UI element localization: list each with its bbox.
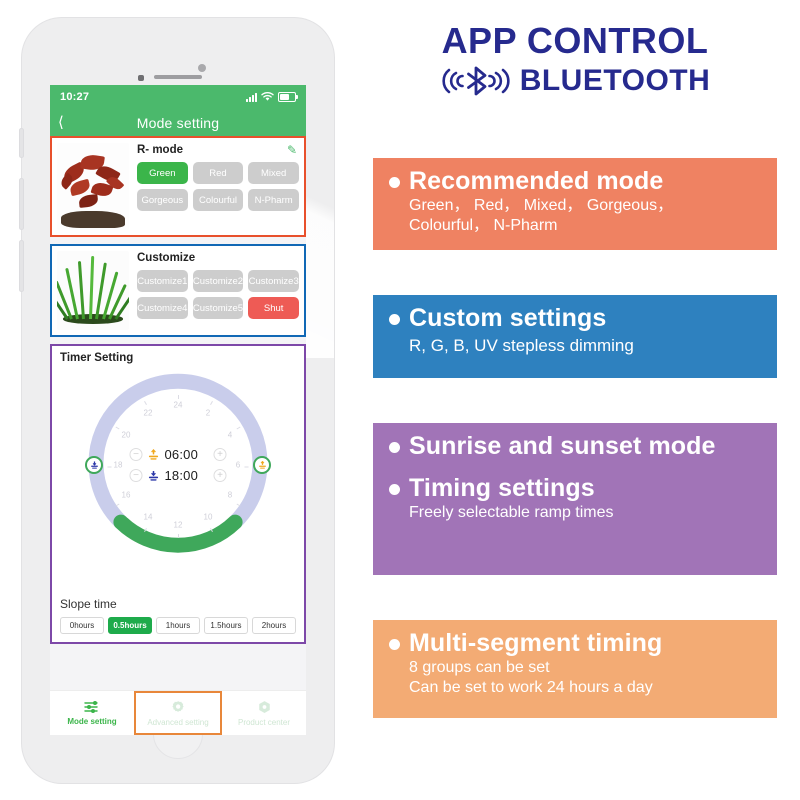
- feature-multi-segment: Multi-segment timing 8 groups can be set…: [373, 620, 777, 718]
- mode-button-red[interactable]: Red: [193, 162, 244, 184]
- customize-button-5[interactable]: Customize5: [193, 297, 244, 319]
- slope-time-title: Slope time: [60, 597, 296, 611]
- timer-setting-card: Timer Setting 24 2 4 6 8 10: [50, 344, 306, 644]
- recommended-mode-card: R- mode ✎ Green Red Mixed Gorgeous Colou…: [50, 136, 306, 237]
- mode-button-mixed[interactable]: Mixed: [248, 162, 299, 184]
- status-icons: [246, 92, 296, 102]
- gear-icon: [171, 700, 186, 715]
- headline-sub-row: BLUETOOTH: [373, 64, 777, 98]
- mode-button-n-pharm[interactable]: N-Pharm: [248, 189, 299, 211]
- feature-multi-sub-1: 8 groups can be set: [389, 658, 777, 678]
- sunset-icon: [90, 461, 99, 470]
- slope-option-0-5hours[interactable]: 0.5hours: [108, 617, 152, 634]
- bullet-icon: [389, 442, 400, 453]
- feature-custom-title: Custom settings: [409, 305, 606, 333]
- timer-dial[interactable]: 24 2 4 6 8 10 12 14 16 18 20 22: [83, 370, 273, 560]
- sunrise-time-row: − 06:00 +: [130, 447, 227, 462]
- feature-custom-settings: Custom settings R, G, B, UV stepless dim…: [373, 295, 777, 378]
- slope-time-area: Slope time 0hours 0.5hours 1hours 1.5hou…: [60, 597, 296, 634]
- recommended-mode-title: R- mode: [137, 144, 183, 156]
- phone-screen: 10:27 ⟨ Mode setting: [50, 85, 306, 735]
- customize-card: Customize Customize1 Customize2 Customiz…: [50, 244, 306, 337]
- dial-label-10: 10: [204, 513, 213, 522]
- sliders-icon: [84, 700, 100, 714]
- feature-recommended-sub-1: Green， Red， Mixed， Gorgeous，: [389, 196, 777, 216]
- dial-label-14: 14: [144, 513, 153, 522]
- timer-center-controls: − 06:00 + −: [130, 447, 227, 483]
- bullet-icon: [389, 314, 400, 325]
- recommended-mode-body: R- mode ✎ Green Red Mixed Gorgeous Colou…: [129, 143, 299, 230]
- feature-timing-header: Timing settings: [389, 475, 777, 503]
- sunset-time-row: − 18:00 +: [130, 468, 227, 483]
- headline-sub: BLUETOOTH: [520, 64, 711, 98]
- feature-custom-sub-1: R, G, B, UV stepless dimming: [389, 333, 777, 357]
- customize-button-4[interactable]: Customize4: [137, 297, 188, 319]
- customize-buttons: Customize1 Customize2 Customize3 Customi…: [137, 270, 299, 319]
- sunset-plus-button[interactable]: +: [214, 469, 227, 482]
- dial-label-2: 2: [206, 409, 210, 418]
- signal-bars-icon: [246, 93, 257, 102]
- timer-dial-wrap: 24 2 4 6 8 10 12 14 16 18 20 22: [52, 370, 304, 565]
- status-time: 10:27: [60, 91, 89, 103]
- nav-item-mode-setting[interactable]: Mode setting: [50, 691, 134, 735]
- sunrise-plus-button[interactable]: +: [214, 448, 227, 461]
- feature-multi-header: Multi-segment timing: [389, 630, 777, 658]
- hexagon-icon: [257, 700, 272, 715]
- phone-proximity-sensor: [138, 75, 144, 81]
- dial-label-22: 22: [144, 409, 153, 418]
- feature-sunrise-header: Sunrise and sunset mode: [389, 433, 777, 461]
- status-bar: 10:27: [50, 85, 306, 109]
- feature-panel: APP CONTROL BLUETOOTH Recommended mode G…: [373, 0, 777, 800]
- feature-timing-sub-1: Freely selectable ramp times: [389, 502, 777, 523]
- phone-volume-up-button[interactable]: [19, 178, 24, 230]
- dial-label-20: 20: [122, 431, 131, 440]
- bottom-nav: Mode setting Advanced setting Product ce…: [50, 690, 306, 735]
- customize-button-1[interactable]: Customize1: [137, 270, 188, 292]
- feature-multi-title: Multi-segment timing: [409, 630, 662, 658]
- phone-front-camera: [198, 64, 206, 72]
- slope-option-1-5hours[interactable]: 1.5hours: [204, 617, 248, 634]
- sunrise-dial-handle[interactable]: [253, 456, 271, 474]
- sunset-dial-handle[interactable]: [85, 456, 103, 474]
- timer-setting-title: Timer Setting: [60, 352, 296, 364]
- recommended-mode-buttons: Green Red Mixed Gorgeous Colourful N-Pha…: [137, 162, 299, 211]
- customize-button-2[interactable]: Customize2: [193, 270, 244, 292]
- feature-timing-title: Timing settings: [409, 475, 595, 503]
- customize-title: Customize: [137, 252, 195, 264]
- nav-label-advanced-setting: Advanced setting: [147, 718, 208, 727]
- headline-main: APP CONTROL: [373, 22, 777, 60]
- sunrise-minus-button[interactable]: −: [130, 448, 143, 461]
- dial-label-16: 16: [122, 491, 131, 500]
- customize-header: Customize: [137, 251, 299, 264]
- sunrise-time-value[interactable]: 06:00: [165, 447, 209, 462]
- customize-button-3[interactable]: Customize3: [248, 270, 299, 292]
- nav-item-advanced-setting[interactable]: Advanced setting: [134, 691, 222, 735]
- red-plant-thumbnail: [57, 143, 129, 230]
- dial-label-12: 12: [174, 521, 183, 530]
- slope-option-2hours[interactable]: 2hours: [252, 617, 296, 634]
- dial-label-8: 8: [228, 491, 232, 500]
- bullet-icon: [389, 484, 400, 495]
- sunset-icon: [148, 470, 160, 482]
- bluetooth-waves-icon: [440, 64, 512, 98]
- page-title: Mode setting: [50, 115, 306, 131]
- phone-silent-switch[interactable]: [19, 128, 24, 158]
- sunrise-icon: [258, 461, 267, 470]
- mode-button-gorgeous[interactable]: Gorgeous: [137, 189, 188, 211]
- nav-label-product-center: Product center: [238, 718, 290, 727]
- bullet-icon: [389, 177, 400, 188]
- customize-body: Customize Customize1 Customize2 Customiz…: [129, 251, 299, 330]
- battery-icon: [278, 92, 296, 102]
- feature-recommended-header: Recommended mode: [389, 168, 777, 196]
- dial-label-24: 24: [174, 401, 183, 410]
- feature-recommended-sub-2: Colourful， N-Pharm: [389, 216, 777, 236]
- phone-earpiece-speaker: [154, 75, 202, 79]
- dial-label-4: 4: [228, 431, 232, 440]
- feature-recommended-title: Recommended mode: [409, 168, 663, 196]
- shut-button[interactable]: Shut: [248, 297, 299, 319]
- recommended-mode-header: R- mode ✎: [137, 143, 299, 156]
- feature-sunrise-title: Sunrise and sunset mode: [409, 433, 716, 461]
- mode-button-colourful[interactable]: Colourful: [193, 189, 244, 211]
- mode-button-green[interactable]: Green: [137, 162, 188, 184]
- back-button[interactable]: ⟨: [58, 115, 64, 130]
- dial-label-18: 18: [114, 461, 123, 470]
- bullet-icon: [389, 639, 400, 650]
- headline-block: APP CONTROL BLUETOOTH: [373, 0, 777, 98]
- phone-mockup: 10:27 ⟨ Mode setting: [22, 18, 334, 783]
- sunrise-icon: [148, 449, 160, 461]
- sunset-minus-button[interactable]: −: [130, 469, 143, 482]
- feature-multi-sub-2: Can be set to work 24 hours a day: [389, 678, 777, 698]
- green-plant-thumbnail: [57, 251, 129, 330]
- slope-time-options: 0hours 0.5hours 1hours 1.5hours 2hours: [60, 617, 296, 634]
- feature-recommended-mode: Recommended mode Green， Red， Mixed， Gorg…: [373, 158, 777, 250]
- nav-item-product-center[interactable]: Product center: [222, 691, 306, 735]
- feature-custom-header: Custom settings: [389, 305, 777, 333]
- feature-sunrise-timing: Sunrise and sunset mode Timing settings …: [373, 423, 777, 575]
- pencil-icon[interactable]: ✎: [287, 144, 297, 156]
- slope-option-1hours[interactable]: 1hours: [156, 617, 200, 634]
- title-bar: ⟨ Mode setting: [50, 109, 306, 136]
- wifi-icon: [261, 92, 274, 102]
- sunset-time-value[interactable]: 18:00: [165, 468, 209, 483]
- nav-label-mode-setting: Mode setting: [67, 717, 116, 726]
- slope-option-0hours[interactable]: 0hours: [60, 617, 104, 634]
- dial-label-6: 6: [236, 461, 240, 470]
- phone-volume-down-button[interactable]: [19, 240, 24, 292]
